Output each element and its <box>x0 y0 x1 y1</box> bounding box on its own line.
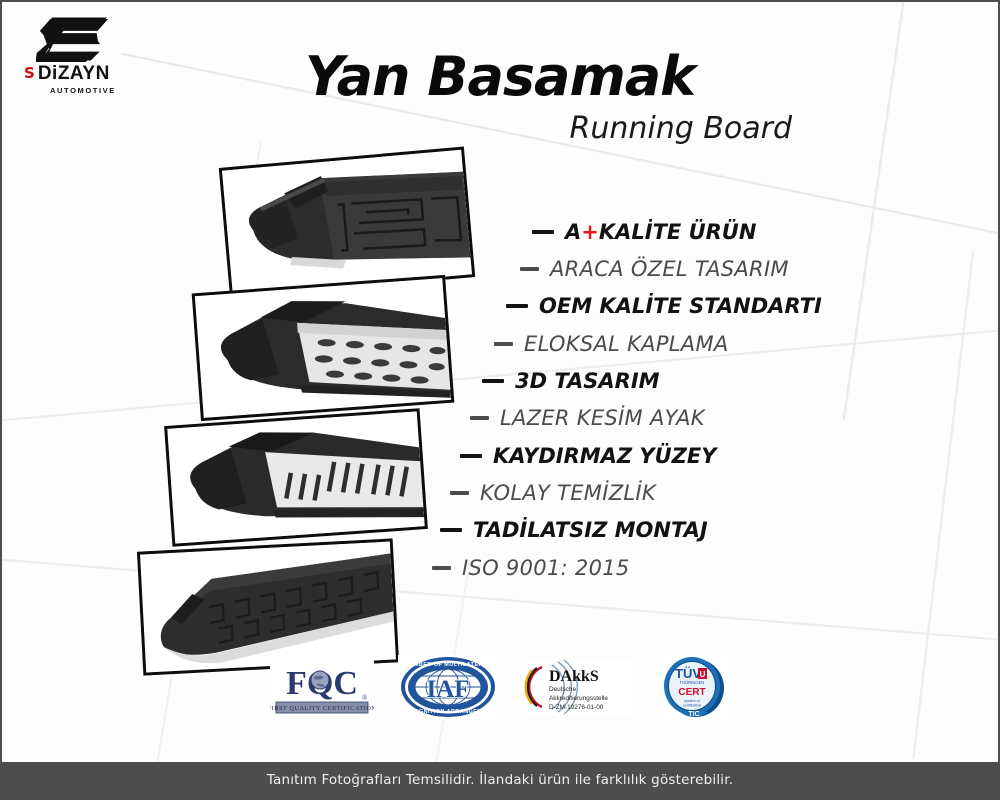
dakks-certificate-badge: DAkkS Deutsche Akkreditierungsstelle D-Z… <box>522 659 634 715</box>
bullet-dash-icon <box>532 230 554 235</box>
footer-disclaimer-bar: Tanıtım Fotoğrafları Temsilidir. İlandak… <box>2 762 998 798</box>
feature-label-part-a: A <box>565 220 581 244</box>
bullet-dash-icon <box>470 416 489 420</box>
feature-item-araca-ozel-tasarim: ARACA ÖZEL TASARIM <box>520 257 789 281</box>
feature-item-oem-kalite-standarti: OEM KALİTE STANDARTI <box>506 294 822 318</box>
product-photo-3[interactable] <box>164 408 428 547</box>
bullet-dash-icon <box>494 342 513 346</box>
feature-list: A+KALİTE ÜRÜN ARACA ÖZEL TASARIM OEM KAL… <box>432 220 902 600</box>
feature-item-3d-tasarim: 3D TASARIM <box>482 369 660 393</box>
svg-text:Deutsche: Deutsche <box>549 686 576 693</box>
svg-text:U: U <box>700 670 706 679</box>
svg-text:certification: certification <box>683 704 701 708</box>
svg-text:D-ZM-19276-01-00: D-ZM-19276-01-00 <box>549 704 604 711</box>
running-board-rubber-tread-pattern <box>140 542 396 673</box>
feature-label: LAZER KESİM AYAK <box>500 406 705 430</box>
svg-text:MEMBER OF MULTILATERAL: MEMBER OF MULTILATERAL <box>405 662 491 668</box>
feature-label: OEM KALİTE STANDARTI <box>539 294 822 318</box>
svg-text:TIC: TIC <box>688 711 699 718</box>
product-photo-2[interactable] <box>192 275 455 421</box>
feature-item-tadilatsiz-montaj: TADİLATSIZ MONTAJ <box>440 518 708 542</box>
svg-text:IAF: IAF <box>426 676 469 703</box>
svg-text:®: ® <box>362 694 368 702</box>
tuv-cert-badge: TÜV U THÜRINGEN CERT system of certifica… <box>658 654 730 720</box>
svg-text:CERT: CERT <box>678 687 705 698</box>
feature-label: 3D TASARIM <box>515 369 660 393</box>
feature-label: KAYDIRMAZ YÜZEY <box>493 444 716 468</box>
feature-item-kaydirmaz-yuzey: KAYDIRMAZ YÜZEY <box>460 444 716 468</box>
running-board-perforated-oval-holes <box>195 278 451 418</box>
feature-label: ISO 9001: 2015 <box>462 556 630 580</box>
page-title: Yan Basamak <box>2 50 998 104</box>
feature-item-a-plus-kalite-urun: A+KALİTE ÜRÜN <box>532 220 756 244</box>
bullet-dash-icon <box>440 528 462 533</box>
bullet-dash-icon <box>432 566 451 570</box>
certification-badges: FQC ® FIRST QUALITY CERTIFICATION IAF <box>2 654 998 720</box>
bullet-dash-icon <box>450 491 469 495</box>
bullet-dash-icon <box>520 267 539 271</box>
feature-item-kolay-temizlik: KOLAY TEMİZLİK <box>450 481 656 505</box>
svg-text:system of: system of <box>684 699 699 703</box>
svg-text:TÜV: TÜV <box>675 666 701 681</box>
feature-label: ARACA ÖZEL TASARIM <box>550 257 789 281</box>
svg-text:FIRST QUALITY CERTIFICATION: FIRST QUALITY CERTIFICATION <box>270 705 374 712</box>
footer-disclaimer-text: Tanıtım Fotoğrafları Temsilidir. İlandak… <box>267 772 733 788</box>
iaf-certificate-badge: IAF MEMBER OF MULTILATERAL RECOGNITION A… <box>398 655 498 719</box>
svg-text:Akkreditierungsstelle: Akkreditierungsstelle <box>549 695 608 702</box>
feature-label: KOLAY TEMİZLİK <box>480 481 656 505</box>
svg-text:RECOGNITION ARRANGEMENT: RECOGNITION ARRANGEMENT <box>401 709 495 715</box>
feature-label-part-rest: KALİTE ÜRÜN <box>599 220 757 244</box>
feature-item-eloksal-kaplama: ELOKSAL KAPLAMA <box>494 332 729 356</box>
svg-text:DAkkS: DAkkS <box>549 668 599 685</box>
bullet-dash-icon <box>460 454 482 459</box>
svg-text:THÜRINGEN: THÜRINGEN <box>680 680 705 685</box>
product-photo-gallery <box>120 152 470 672</box>
page-subtitle: Running Board <box>2 114 792 144</box>
fqc-certificate-badge: FQC ® FIRST QUALITY CERTIFICATION <box>270 658 374 716</box>
product-banner: S DiZAYN AUTOMOTIVE Yan Basamak Running … <box>0 0 1000 800</box>
bullet-dash-icon <box>506 304 528 309</box>
feature-plus-symbol: + <box>581 220 599 244</box>
feature-item-iso-9001: ISO 9001: 2015 <box>432 556 630 580</box>
feature-item-lazer-kesim-ayak: LAZER KESİM AYAK <box>470 406 705 430</box>
feature-label: ELOKSAL KAPLAMA <box>524 332 729 356</box>
bullet-dash-icon <box>482 379 504 384</box>
feature-label: TADİLATSIZ MONTAJ <box>473 518 708 542</box>
running-board-slotted-stripes <box>167 411 424 543</box>
